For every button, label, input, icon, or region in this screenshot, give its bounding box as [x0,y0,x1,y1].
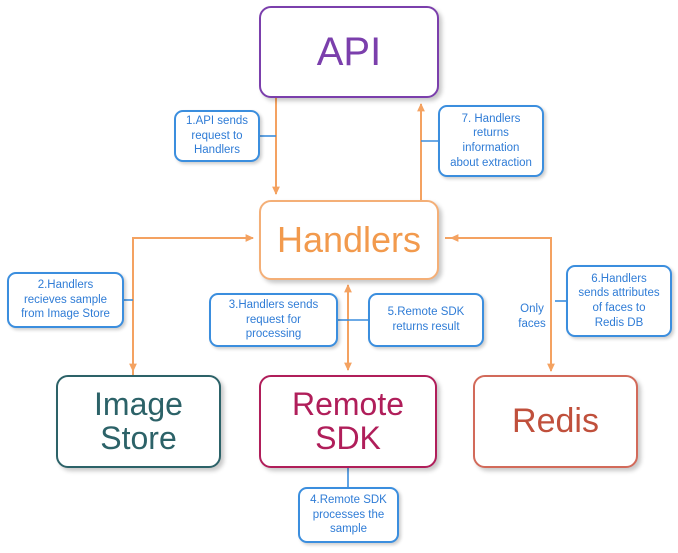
node-remote-sdk[interactable]: Remote SDK [259,375,437,468]
node-api-label: API [317,31,381,73]
step-label-3: 3.Handlers sends request for processing [209,293,338,347]
step-label-1: 1.API sends request to Handlers [174,110,260,162]
step-label-2: 2.Handlers recieves sample from Image St… [7,272,124,328]
step-label-4: 4.Remote SDK processes the sample [298,487,399,543]
step-label-7: 7. Handlers returns information about ex… [438,105,544,177]
node-redis[interactable]: Redis [473,375,638,468]
node-api[interactable]: API [259,6,439,98]
node-image-store[interactable]: Image Store [56,375,221,468]
node-handlers[interactable]: Handlers [259,200,439,280]
node-remote-sdk-label: Remote SDK [292,388,404,455]
node-handlers-label: Handlers [277,221,421,259]
step-label-6: 6.Handlers sends attributes of faces to … [566,265,672,337]
node-image-store-label: Image Store [94,388,183,455]
step-label-5: 5.Remote SDK returns result [368,293,484,347]
node-redis-label: Redis [512,404,599,440]
edge-label-only-faces: Only faces [509,302,555,331]
diagram-canvas: API Handlers Image Store Remote SDK Redi… [0,0,678,553]
